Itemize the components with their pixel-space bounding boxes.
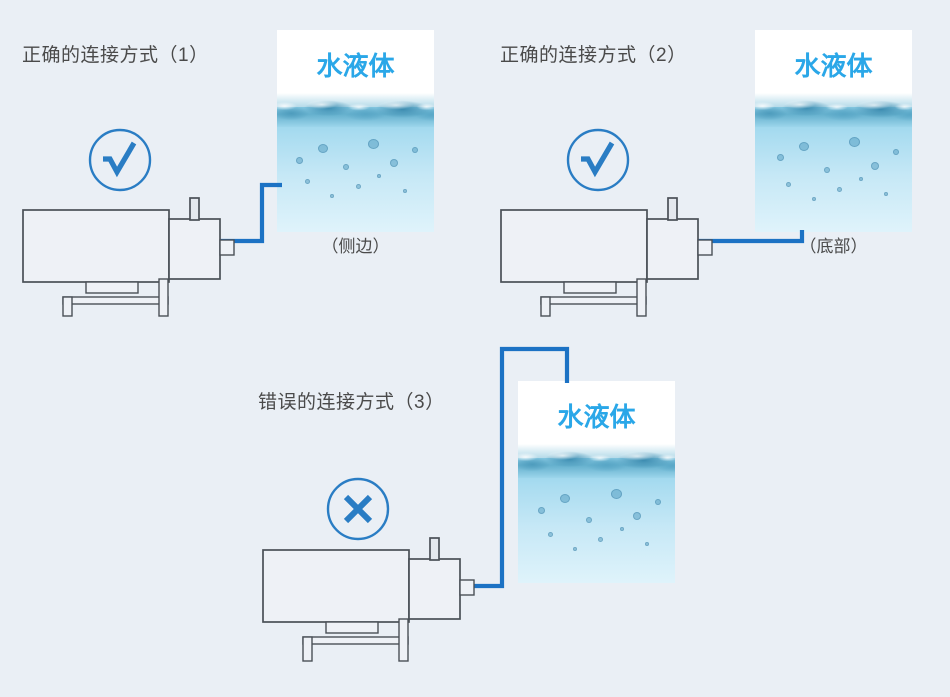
bubble	[655, 499, 661, 505]
bubble	[586, 517, 592, 523]
bubble	[377, 174, 381, 178]
bubble	[799, 142, 809, 151]
bubble	[343, 164, 349, 170]
bubble	[645, 542, 649, 546]
panel-1-caption: （侧边）	[277, 232, 434, 257]
water-foam-1	[277, 99, 434, 113]
check-mark-icon	[564, 126, 632, 194]
bubble	[893, 149, 899, 155]
bubble	[871, 162, 879, 170]
bubble	[859, 177, 863, 181]
check-mark-icon	[86, 126, 154, 194]
bubble	[296, 157, 303, 164]
bubble	[633, 512, 641, 520]
bubble	[824, 167, 830, 173]
bubble	[305, 179, 310, 184]
bubble	[849, 137, 860, 147]
panel-correct-connection-2: 正确的连接方式（2） 水液体 （底部）	[478, 0, 950, 330]
panel-correct-connection-1: 正确的连接方式（1） 水液体 （侧边）	[0, 0, 470, 330]
water-foam-2	[755, 99, 912, 113]
bubble	[390, 159, 398, 167]
panel-wrong-connection-3: 错误的连接方式（3） 水液体	[240, 335, 710, 697]
bubble	[330, 194, 334, 198]
pump-motor-assembly-3	[258, 531, 488, 661]
water-tank-1: 水液体	[277, 30, 434, 232]
bubble	[318, 144, 328, 153]
bubble	[412, 147, 418, 153]
pump-motor-assembly-2	[496, 196, 726, 316]
water-surface-1	[277, 93, 434, 127]
bubble	[884, 192, 888, 196]
bubble	[611, 489, 622, 499]
bubble	[598, 537, 603, 542]
bubble	[368, 139, 379, 149]
tank-water-body-1	[277, 107, 434, 232]
bubble	[356, 184, 361, 189]
bubble	[777, 154, 784, 161]
water-surface-2	[755, 93, 912, 127]
tank-label-2: 水液体	[755, 46, 912, 83]
tank-label-1: 水液体	[277, 46, 434, 83]
pump-motor-assembly-1	[18, 196, 248, 316]
panel-2-title: 正确的连接方式（2）	[500, 40, 687, 67]
bubble	[837, 187, 842, 192]
bubble	[403, 189, 407, 193]
bubble	[620, 527, 624, 531]
panel-1-title: 正确的连接方式（1）	[22, 40, 209, 67]
panel-3-title: 错误的连接方式（3）	[258, 387, 445, 414]
